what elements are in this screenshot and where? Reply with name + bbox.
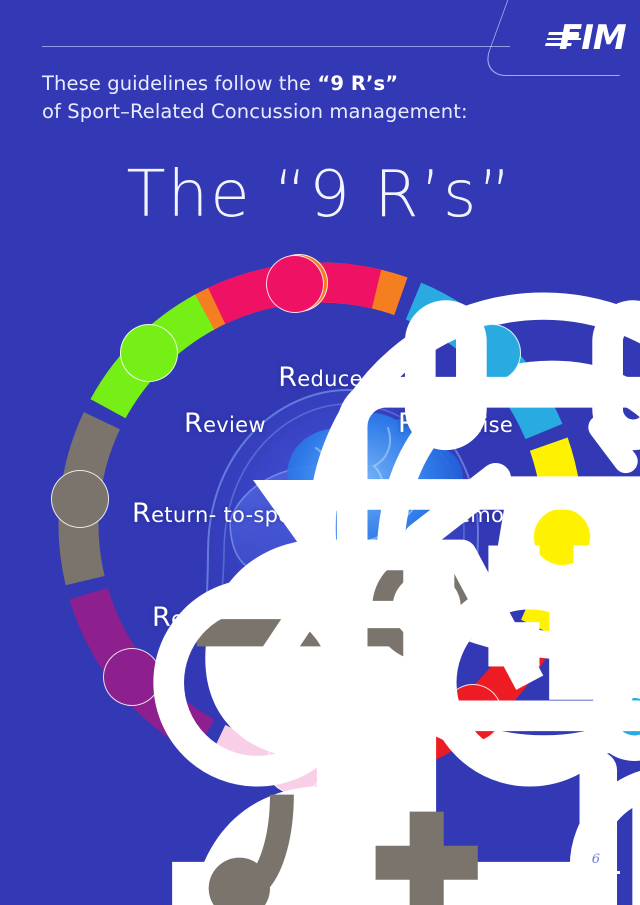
icon-bubble-rehabilitation[interactable] — [51, 470, 109, 528]
fim-logo: FIM — [545, 16, 637, 60]
subtitle-line1-part1: These guidelines follow the — [42, 72, 317, 95]
poster-page: FIM These guidelines follow the “9 R’s” … — [0, 0, 640, 905]
icon-bubble-review[interactable] — [266, 255, 324, 313]
nine-rs-wheel: ReduceRecogniseRemoveReferRestRecoverReh… — [48, 252, 593, 797]
icon-bubble-return-to-sport[interactable] — [120, 324, 178, 382]
subtitle-line1-emphasis: “9 R’s” — [317, 72, 398, 95]
footer-wedge-decoration — [558, 871, 620, 891]
page-number: 6 — [592, 852, 600, 867]
page-title: The “9 R’s” — [0, 158, 640, 232]
subtitle-line2: of Sport–Related Concussion management: — [42, 100, 468, 123]
fim-logo-text: FIM — [559, 21, 626, 55]
header-divider — [42, 46, 510, 47]
subtitle: These guidelines follow the “9 R’s” of S… — [42, 70, 512, 126]
